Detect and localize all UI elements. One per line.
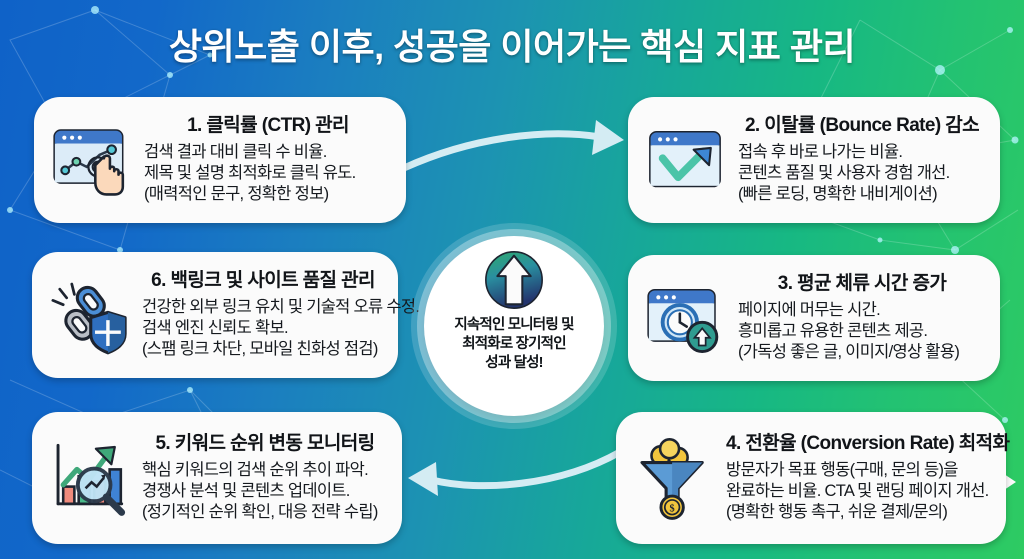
card-2-line-1: 접속 후 바로 나가는 비율. [738,142,986,163]
card-4-conversion-rate[interactable]: $ 4. 전환율 (Conversion Rate) 최적화 방문자가 목표 행… [616,412,1006,544]
card-5-line-2: 경쟁사 분석 및 콘텐츠 업데이트. [142,481,388,502]
arrow-right-curved-icon [404,120,624,168]
card-1-text: 1. 클릭률 (CTR) 관리 검색 결과 대비 클릭 수 비율. 제목 및 설… [144,115,392,205]
card-6-backlink-site-quality[interactable]: 6. 백링크 및 사이트 품질 관리 건강한 외부 링크 유치 및 기술적 오류… [32,252,398,378]
card-6-line-3: (스팸 링크 차단, 모바일 친화성 점검) [142,339,384,360]
infographic-title-container: 상위노출 이후, 성공을 이어가는 핵심 지표 관리 [0,18,1024,70]
card-1-click-through-rate[interactable]: 1. 클릭률 (CTR) 관리 검색 결과 대비 클릭 수 비율. 제목 및 설… [34,97,406,223]
card-6-line-1: 건강한 외부 링크 유치 및 기술적 오류 수정. [142,297,384,318]
card-5-line-1: 핵심 키워드의 검색 순위 추이 파악. [142,460,388,481]
card-1-line-1: 검색 결과 대비 클릭 수 비율. [144,142,392,163]
card-2-bounce-rate[interactable]: 2. 이탈률 (Bounce Rate) 감소 접속 후 바로 나가는 비율. … [628,97,1000,223]
svg-text:$: $ [670,504,675,515]
card-3-average-session-duration[interactable]: 3. 평균 체류 시간 증가 페이지에 머무는 시간. 흥미롭고 유용한 콘텐츠… [628,255,1000,381]
card-5-line-3: (정기적인 순위 확인, 대응 전략 수립) [142,502,388,523]
card-6-heading: 6. 백링크 및 사이트 품질 관리 [142,270,384,292]
card-4-text: 4. 전환율 (Conversion Rate) 최적화 방문자가 목표 행동(… [726,433,992,523]
hub-line-3: 성과 달성! [454,354,573,373]
card-3-text: 3. 평균 체류 시간 증가 페이지에 머무는 시간. 흥미롭고 유용한 콘텐츠… [738,273,986,363]
card-1-line-2: 제목 및 설명 최적화로 클릭 유도. [144,163,392,184]
card-3-line-2: 흥미롭고 유용한 콘텐츠 제공. [738,321,986,342]
hub-line-2: 최적화로 장기적인 [454,335,573,354]
bar-chart-magnifier-icon [46,435,132,521]
card-2-heading: 2. 이탈률 (Bounce Rate) 감소 [738,115,986,137]
card-2-line-3: (빠른 로딩, 명확한 내비게이션) [738,184,986,205]
arrow-left-curved-icon [408,452,620,496]
card-5-keyword-rank-monitoring[interactable]: 5. 키워드 순위 변동 모니터링 핵심 키워드의 검색 순위 추이 파악. 경… [32,412,402,544]
card-3-line-3: (가독성 좋은 글, 이미지/영상 활용) [738,342,986,363]
browser-click-chart-icon [48,117,134,203]
center-hub-text: 지속적인 모니터링 및 최적화로 장기적인 성과 달성! [454,316,573,373]
card-6-line-2: 검색 엔진 신뢰도 확보. [142,318,384,339]
card-4-line-1: 방문자가 목표 행동(구매, 문의 등)을 [726,460,992,481]
hub-line-1: 지속적인 모니터링 및 [454,316,573,335]
card-1-line-3: (매력적인 문구, 정확한 정보) [144,184,392,205]
card-5-text: 5. 키워드 순위 변동 모니터링 핵심 키워드의 검색 순위 추이 파악. 경… [142,433,388,523]
card-5-heading: 5. 키워드 순위 변동 모니터링 [142,433,388,455]
funnel-coins-icon: $ [630,435,716,521]
card-2-text: 2. 이탈률 (Bounce Rate) 감소 접속 후 바로 나가는 비율. … [738,115,986,205]
browser-clock-uparrow-icon [642,275,728,361]
browser-rising-check-arrow-icon [642,117,728,203]
page-title: 상위노출 이후, 성공을 이어가는 핵심 지표 관리 [0,18,1024,70]
card-3-heading: 3. 평균 체류 시간 증가 [738,273,986,295]
center-hub: 지속적인 모니터링 및 최적화로 장기적인 성과 달성! [424,236,604,416]
card-6-text: 6. 백링크 및 사이트 품질 관리 건강한 외부 링크 유치 및 기술적 오류… [142,270,384,360]
card-2-line-2: 콘텐츠 품질 및 사용자 경험 개선. [738,163,986,184]
chain-link-shield-icon [46,272,132,358]
card-4-line-2: 완료하는 비율. CTA 및 랜딩 페이지 개선. [726,481,992,502]
card-4-heading: 4. 전환율 (Conversion Rate) 최적화 [726,433,992,455]
up-arrow-globe-icon [482,248,546,312]
card-4-line-3: (명확한 행동 촉구, 쉬운 결제/문의) [726,502,992,523]
card-1-heading: 1. 클릭률 (CTR) 관리 [144,115,392,137]
card-3-line-1: 페이지에 머무는 시간. [738,300,986,321]
